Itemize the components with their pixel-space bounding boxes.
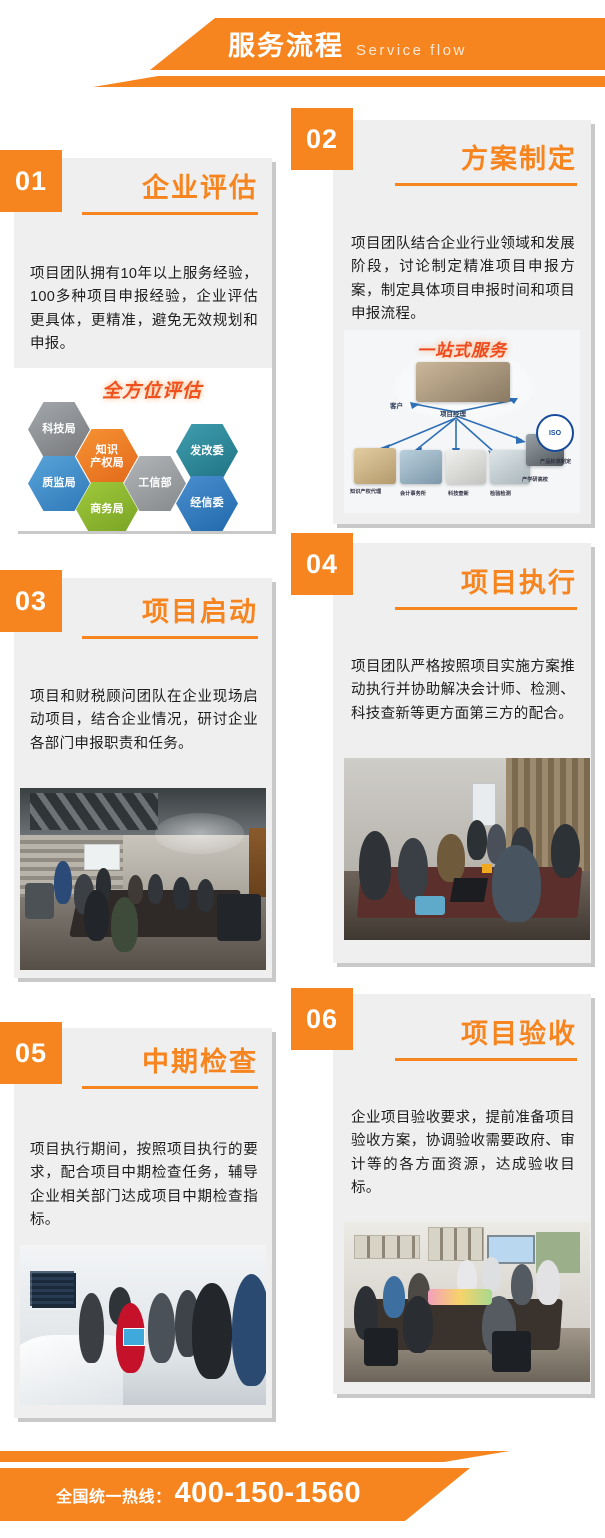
person: [359, 831, 391, 900]
person: [551, 824, 581, 879]
card-04-photo: [344, 758, 590, 940]
photo-scene-acceptance-meeting: [344, 1222, 590, 1382]
chair: [25, 883, 55, 919]
card-06-photo: [344, 1222, 590, 1382]
chair: [217, 894, 261, 941]
certificates-left: [354, 1235, 420, 1259]
person: [467, 820, 487, 860]
hexagon-assessment-diagram: 全方位评估 科技局 知识产权局 质监局 工信部 商务局 发改委 经信委: [14, 368, 272, 531]
card-body-text: 企业项目验收要求，提前准备项目验收方案，协调验收需要政府、审计等的各方面资源，达…: [351, 1107, 575, 1201]
person-foreground: [403, 1296, 433, 1354]
person-foreground: [492, 845, 541, 921]
service-label-kehu: 客户: [390, 400, 403, 410]
card-title: 项目执行: [395, 561, 577, 610]
service-label-industry-research: 产学研高校: [522, 476, 548, 483]
certificates-center: [428, 1227, 484, 1261]
step-badge-04: 04: [291, 533, 353, 595]
person: [511, 1264, 533, 1306]
card-body-text: 项目团队结合企业行业领域和发展阶段，讨论制定精准项目申报方案，制定具体项目申报时…: [351, 233, 575, 327]
card-title: 项目验收: [395, 1012, 577, 1061]
page-header: 服务流程 Service flow: [0, 0, 605, 100]
step-badge-06: 06: [291, 988, 353, 1050]
service-label-accounting-firm: 会计事务所: [400, 490, 426, 497]
person: [84, 890, 109, 941]
hexagon-diagram-title: 全方位评估: [102, 376, 202, 403]
chair: [364, 1328, 398, 1366]
card-title: 企业评估: [82, 166, 258, 215]
photo-scene-working-meeting: [344, 758, 590, 940]
photo-scene-showroom-tour: [20, 1245, 266, 1405]
card-03-heading: 项目启动: [82, 590, 258, 639]
person: [482, 1257, 502, 1292]
person-foreground: [232, 1274, 266, 1386]
brochure: [123, 1328, 145, 1346]
step-badge-05: 05: [0, 1022, 62, 1084]
whiteboard: [84, 844, 120, 870]
person: [148, 1293, 175, 1363]
header-title-group: 服务流程 Service flow: [228, 24, 467, 66]
card-04-heading: 项目执行: [395, 561, 577, 610]
card-title: 方案制定: [395, 137, 577, 186]
card-title: 项目启动: [82, 590, 258, 639]
card-body-text: 项目团队严格按照项目实施方案推动执行并协助解决会计师、检测、科技查新等更方面第三…: [351, 656, 575, 726]
person: [173, 877, 190, 910]
hotline-label: 全国统一热线：: [56, 1483, 172, 1507]
card-05-photo: [20, 1245, 266, 1405]
person: [148, 874, 163, 905]
person: [197, 879, 214, 912]
hotline-group: 全国统一热线： 400-150-1560: [56, 1477, 361, 1510]
hotline-number[interactable]: 400-150-1560: [175, 1477, 362, 1510]
photo-scene-meeting-room: [20, 788, 266, 970]
light-glow: [155, 813, 244, 853]
service-flow-title: 一站式服务: [417, 336, 507, 361]
step-badge-03: 03: [0, 570, 62, 632]
person-foreground: [192, 1283, 231, 1379]
person: [79, 1293, 104, 1363]
header-accent-stripe: [0, 76, 605, 87]
card-06-heading: 项目验收: [395, 1012, 577, 1061]
step-badge-02: 02: [291, 108, 353, 170]
flowers-gifts: [428, 1289, 492, 1305]
service-node-meeting: [416, 362, 510, 402]
service-label-product-standard: 产品标准制定: [540, 458, 571, 465]
person: [54, 861, 71, 905]
service-label-xiangmu-jingli: 项目经理: [440, 408, 466, 418]
page-footer: 全国统一热线： 400-150-1560: [0, 1435, 605, 1538]
service-label-ip-agency: 知识产权代理: [350, 488, 381, 495]
card-03-photo: [20, 788, 266, 970]
service-node-sci-search: [446, 450, 486, 484]
screen-content: [30, 1271, 74, 1306]
service-node-ip: [354, 448, 396, 484]
person: [111, 897, 138, 952]
person: [128, 875, 143, 904]
card-body-text: 项目和财税顾问团队在企业现场启动项目，结合企业情况，研讨企业各部门申报职责和任务…: [30, 686, 258, 756]
hexagon-fagai-wei: 发改委: [176, 424, 238, 479]
person: [398, 838, 428, 900]
laptop: [450, 878, 489, 902]
service-flow-diagram: 一站式服务 客户 项目经理: [344, 330, 580, 513]
marker: [482, 864, 492, 873]
card-01-heading: 企业评估: [82, 166, 258, 215]
person: [536, 1260, 561, 1305]
person: [437, 834, 464, 881]
page-subtitle: Service flow: [356, 42, 467, 59]
service-flow-scene: 一站式服务 客户 项目经理: [344, 330, 580, 513]
service-node-accounting: [400, 450, 442, 484]
chair: [492, 1331, 531, 1373]
card-body-text: 项目团队拥有10年以上服务经验，100多种项目申报经验，企业评估更具体，更精准，…: [30, 263, 258, 357]
iso-seal-icon: ISO: [536, 414, 574, 452]
reception-counter: [20, 1335, 123, 1405]
step-badge-01: 01: [0, 150, 62, 212]
card-05-heading: 中期检查: [82, 1040, 258, 1089]
person: [383, 1276, 405, 1318]
ceiling-pattern: [30, 793, 158, 829]
service-label-sci-search: 科技查新: [448, 490, 469, 497]
card-body-text: 项目执行期间，按照项目执行的要求，配合项目中期检查任务，辅导企业相关部门达成项目…: [30, 1139, 258, 1233]
card-title: 中期检查: [82, 1040, 258, 1089]
card-02-heading: 方案制定: [395, 137, 577, 186]
footer-accent-stripe: [0, 1451, 605, 1462]
bag: [415, 896, 445, 914]
page-title: 服务流程: [228, 24, 344, 63]
service-label-inspection: 检验检测: [490, 490, 511, 497]
